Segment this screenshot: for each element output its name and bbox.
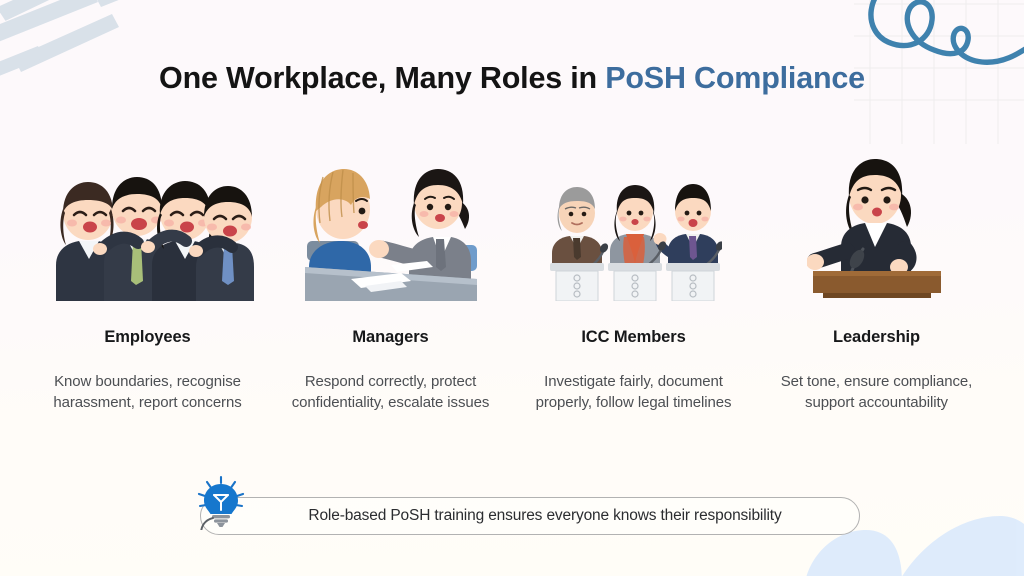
blue-looping-squiggle-decoration [858, 0, 1024, 116]
lightbulb-icon [193, 474, 249, 530]
page-title: One Workplace, Many Roles in PoSH Compli… [159, 62, 865, 96]
manager-meeting-at-desk-illustration [269, 146, 512, 301]
role-title: Managers [352, 328, 428, 347]
footer-banner: Role-based PoSH training ensures everyon… [200, 497, 860, 535]
role-title: Leadership [833, 328, 920, 347]
role-column-managers: Managers Respond correctly, protect conf… [269, 146, 512, 413]
role-description: Know boundaries, recognise harassment, r… [40, 371, 255, 413]
diagonal-brush-strokes-decoration [0, 0, 216, 118]
leader-speaking-at-podium-illustration [755, 146, 998, 301]
role-column-employees: Employees Know boundaries, recognise har… [26, 146, 269, 413]
page-title-container: One Workplace, Many Roles in PoSH Compli… [0, 62, 1024, 96]
role-title: ICC Members [581, 328, 685, 347]
page-title-accent: PoSH Compliance [605, 61, 865, 95]
role-title: Employees [104, 328, 190, 347]
footer-text: Role-based PoSH training ensures everyon… [264, 507, 795, 525]
role-description: Investigate fairly, document properly, f… [526, 371, 741, 413]
role-column-icc-members: ICC Members Investigate fairly, document… [512, 146, 755, 413]
roles-row: Employees Know boundaries, recognise har… [26, 146, 998, 413]
role-description: Respond correctly, protect confidentiali… [283, 371, 498, 413]
slide-canvas: One Workplace, Many Roles in PoSH Compli… [0, 0, 1024, 576]
committee-panel-with-microphones-illustration [512, 146, 755, 301]
group-of-four-employees-illustration [26, 146, 269, 301]
role-description: Set tone, ensure compliance, support acc… [769, 371, 984, 413]
role-column-leadership: Leadership Set tone, ensure compliance, … [755, 146, 998, 413]
page-title-main: One Workplace, Many Roles in [159, 61, 605, 95]
